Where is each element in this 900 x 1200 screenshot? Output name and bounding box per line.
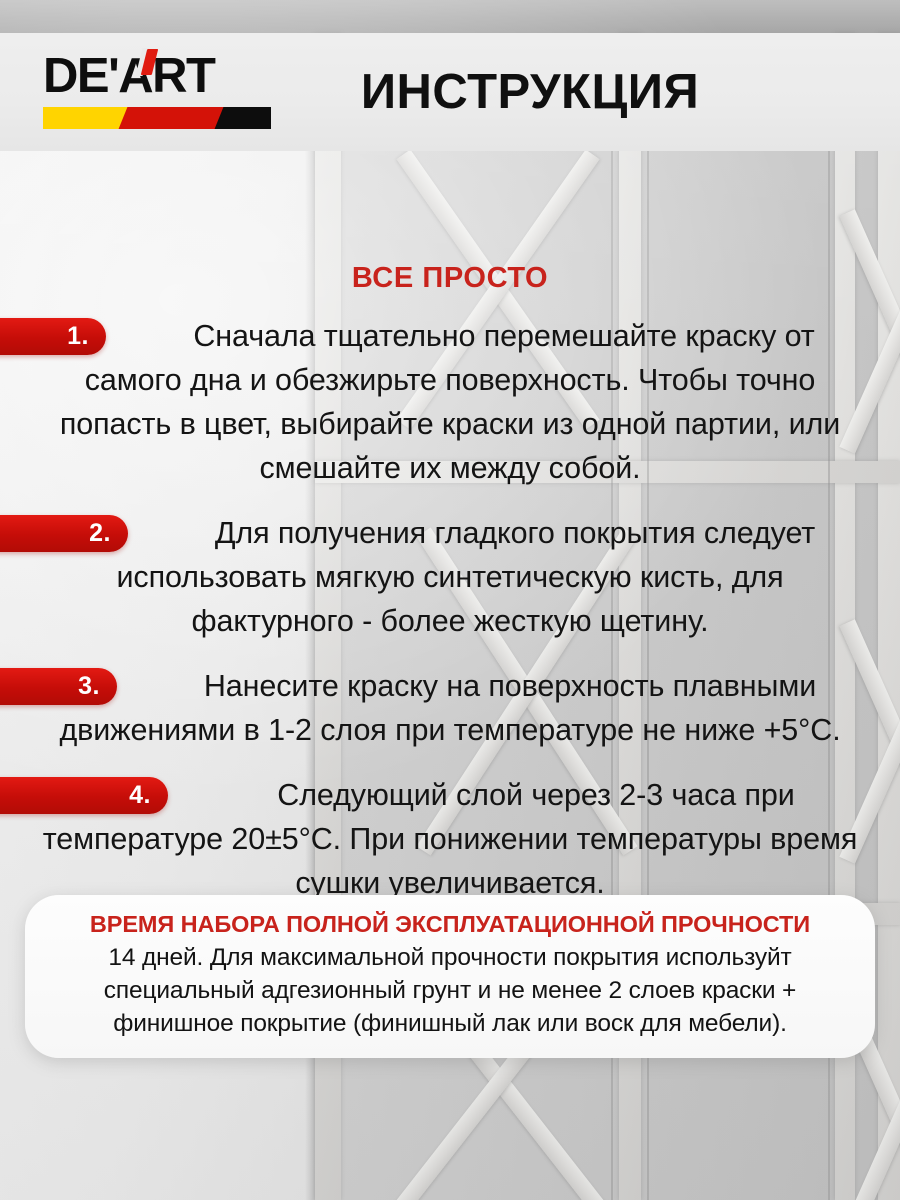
step-item: 3. Нанесите краску на поверхность плавны… [0, 664, 900, 752]
step-item: 2. Для получения гладкого покрытия следу… [0, 511, 900, 643]
step-number-badge: 4. [0, 777, 168, 814]
step-number-badge: 1. [0, 318, 106, 355]
photo-top-strip [0, 0, 900, 33]
step-item: 4. Следующий слой через 2-3 часа при тем… [0, 773, 900, 905]
section-title: ВСЕ ПРОСТО [0, 262, 900, 295]
page-header: DE'ART ИНСТРУКЦИЯ [0, 33, 900, 151]
page-title: ИНСТРУКЦИЯ [0, 33, 900, 151]
step-item: 1. Сначала тщательно перемешайте краску … [0, 314, 900, 490]
strength-note-card: ВРЕМЯ НАБОРА ПОЛНОЙ ЭКСПЛУАТАЦИОННОЙ ПРО… [25, 895, 875, 1058]
step-text: Сначала тщательно перемешайте краску от … [0, 314, 900, 490]
step-number-badge: 3. [0, 668, 117, 705]
page-content: ВСЕ ПРОСТО 1. Сначала тщательно перемеша… [0, 151, 900, 1200]
step-text: Для получения гладкого покрытия следует … [0, 511, 900, 643]
instruction-page: DE'ART ИНСТРУКЦИЯ ВСЕ ПРОСТО 1. Сначала … [0, 0, 900, 1200]
step-text: Нанесите краску на поверхность плавными … [0, 664, 900, 752]
note-body: 14 дней. Для максимальной прочности покр… [43, 941, 857, 1040]
note-title: ВРЕМЯ НАБОРА ПОЛНОЙ ЭКСПЛУАТАЦИОННОЙ ПРО… [43, 911, 857, 938]
step-number-badge: 2. [0, 515, 128, 552]
steps-list: 1. Сначала тщательно перемешайте краску … [0, 314, 900, 922]
